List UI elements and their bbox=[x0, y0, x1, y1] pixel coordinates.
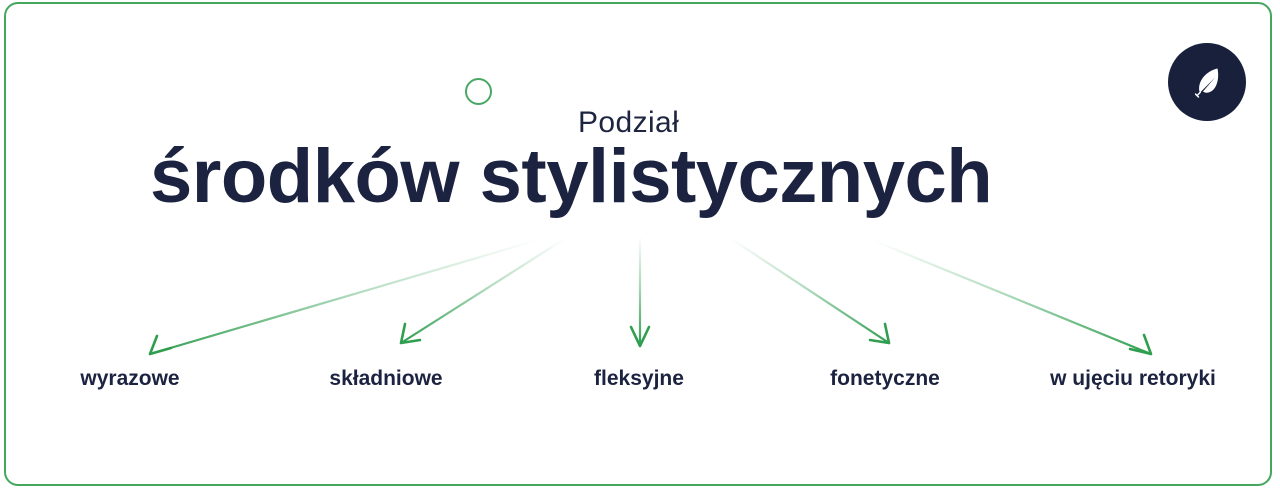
card-frame bbox=[4, 2, 1272, 486]
circle-outline-icon bbox=[465, 78, 492, 105]
branch-label-fleksyjne: fleksyjne bbox=[594, 367, 684, 391]
feather-quill-icon bbox=[1168, 43, 1246, 121]
branch-label-fonetyczne: fonetyczne bbox=[830, 367, 940, 391]
branch-label-w-ujeciu-retoryki: w ujęciu retoryki bbox=[1050, 367, 1216, 391]
slide-canvas: Podział środków stylistycznych bbox=[0, 0, 1280, 492]
branch-label-wyrazowe: wyrazowe bbox=[80, 367, 179, 391]
branch-label-skladniowe: składniowe bbox=[329, 367, 442, 391]
page-title: środków stylistycznych bbox=[150, 134, 992, 219]
